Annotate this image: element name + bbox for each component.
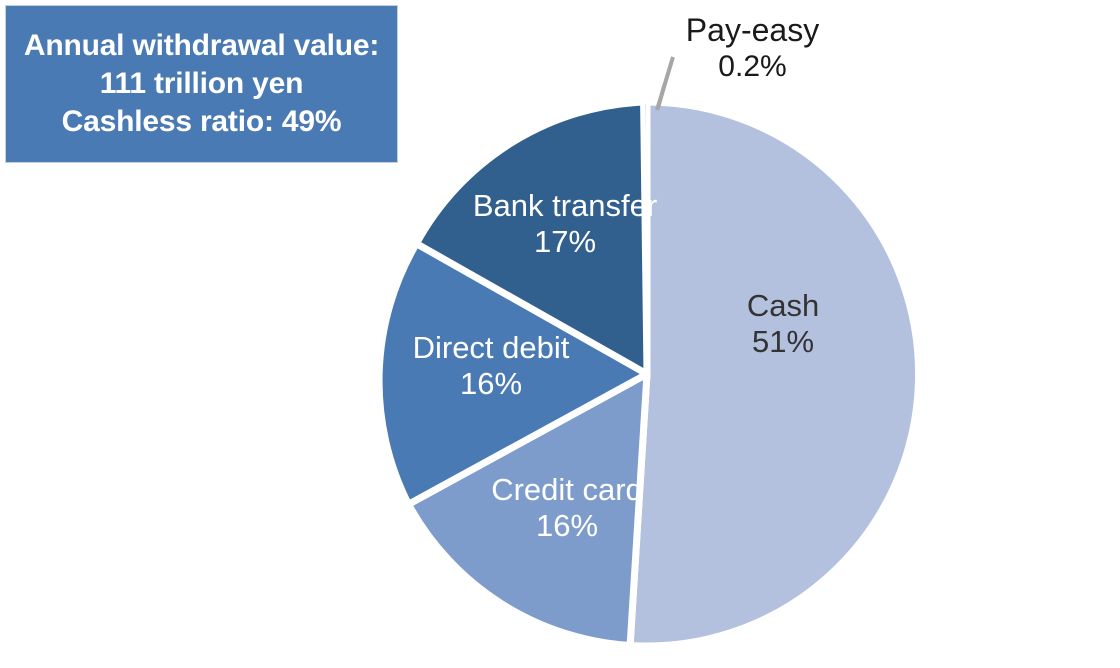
pie-label-pay-easy-name: Pay-easy bbox=[650, 12, 855, 49]
callout-line-3: Cashless ratio: 49% bbox=[62, 103, 342, 141]
payment-method-pie-chart bbox=[360, 84, 940, 668]
pie-slice-cash[interactable] bbox=[630, 102, 918, 646]
pie-svg bbox=[360, 84, 940, 668]
callout-line-1: Annual withdrawal value: bbox=[24, 27, 379, 65]
annual-withdrawal-callout-box: Annual withdrawal value: 111 trillion ye… bbox=[5, 5, 398, 163]
pie-label-pay-easy-value: 0.2% bbox=[650, 49, 855, 84]
callout-line-2: 111 trillion yen bbox=[100, 65, 304, 103]
pie-slices bbox=[379, 102, 919, 646]
pie-label-pay-easy: Pay-easy 0.2% bbox=[650, 12, 855, 85]
